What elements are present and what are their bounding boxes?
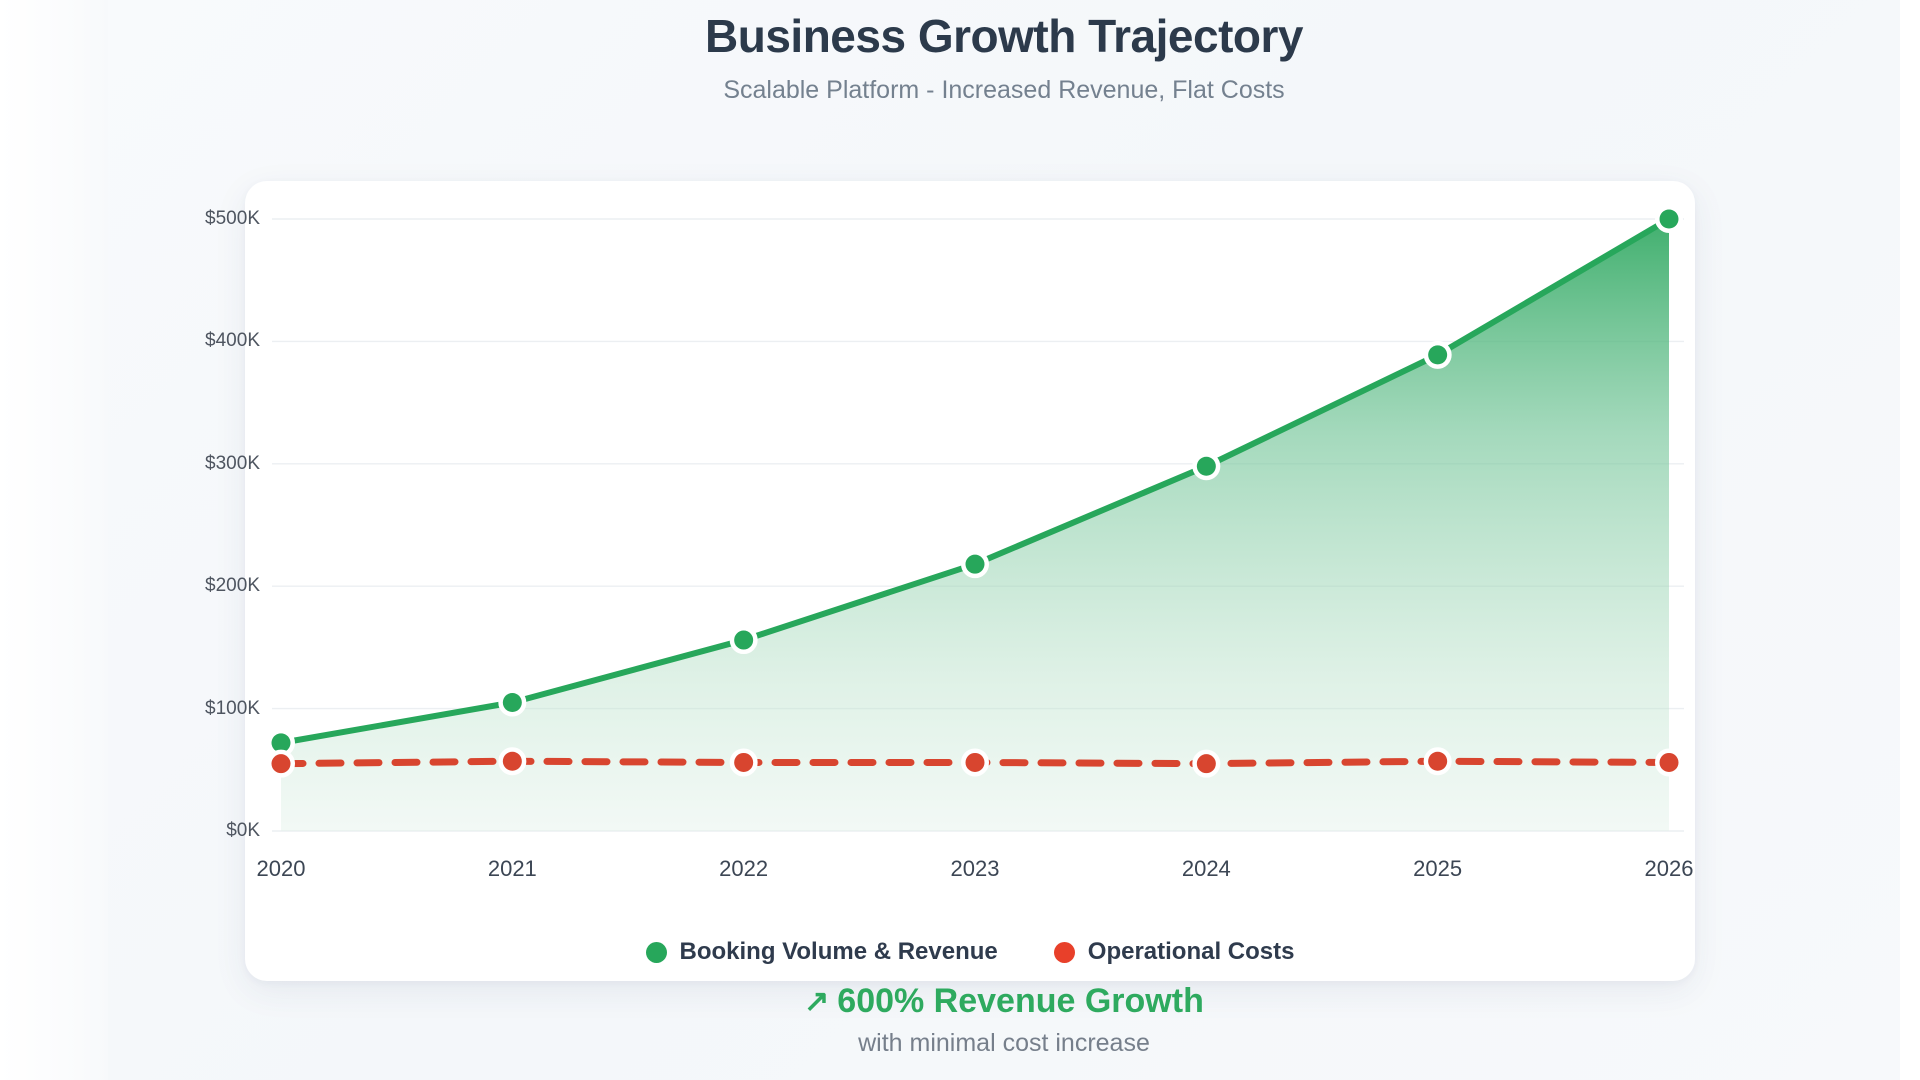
legend-item[interactable]: Operational Costs <box>1054 938 1295 966</box>
y-axis-tick-label: $200K <box>140 575 260 597</box>
revenue-area-fill <box>281 219 1669 831</box>
chart-legend: Booking Volume & RevenueOperational Cost… <box>245 938 1695 966</box>
legend-item-label: Booking Volume & Revenue <box>680 938 998 966</box>
plot-area: $500K$400K$300K$200K$100K$0K 20202021202… <box>0 0 1920 1080</box>
growth-callout: ↗ 600% Revenue Growth <box>804 982 1204 1021</box>
circle-dot-icon <box>646 942 667 963</box>
chart-page: Business Growth Trajectory Scalable Plat… <box>0 0 1920 1080</box>
y-axis-tick-label: $400K <box>140 330 260 352</box>
y-axis-tick-label: $300K <box>140 453 260 475</box>
x-axis-tick-label: 2025 <box>1378 856 1498 882</box>
legend-item[interactable]: Booking Volume & Revenue <box>646 938 998 966</box>
chart-footer: ↗ 600% Revenue Growth with minimal cost … <box>108 982 1900 1058</box>
x-axis-tick-label: 2024 <box>1146 856 1266 882</box>
circle-dot-icon <box>1054 942 1075 963</box>
x-axis-tick-label: 2026 <box>1609 856 1729 882</box>
y-axis-tick-label: $0K <box>140 820 260 842</box>
x-axis-tick-label: 2021 <box>452 856 572 882</box>
x-axis-tick-label: 2020 <box>221 856 341 882</box>
y-axis-tick-label: $500K <box>140 208 260 230</box>
x-axis-tick-label: 2022 <box>684 856 804 882</box>
line-chart-svg <box>0 0 1920 1080</box>
y-axis-tick-label: $100K <box>140 698 260 720</box>
growth-value-label: 600% Revenue Growth <box>837 982 1204 1021</box>
x-axis-tick-label: 2023 <box>915 856 1035 882</box>
legend-item-label: Operational Costs <box>1088 938 1295 966</box>
growth-subtext: with minimal cost increase <box>108 1029 1900 1058</box>
trend-up-arrow-icon: ↗ <box>804 987 829 1017</box>
